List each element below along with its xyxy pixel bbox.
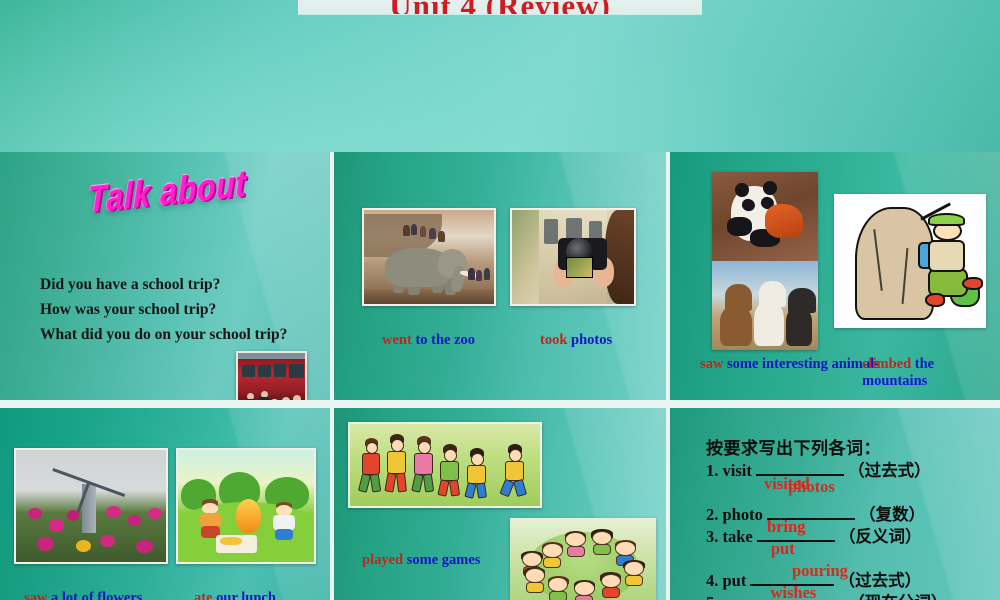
panel-played-some-games: played some games bbox=[334, 408, 666, 600]
row-word: pour bbox=[723, 593, 757, 600]
answer-blank[interactable]: put bbox=[757, 540, 835, 542]
row-number: 1. bbox=[706, 461, 718, 480]
panel-flowers-and-lunch: saw a lot of flowers bbox=[0, 408, 330, 600]
kids-picnic-campfire-cartoon bbox=[176, 448, 316, 564]
caption-rest: some games bbox=[407, 552, 481, 568]
row-hint: （反义词） bbox=[839, 527, 922, 546]
row-number: 4. bbox=[706, 571, 718, 590]
exercise-row: 2. photo bring （复数） bbox=[706, 504, 947, 526]
row-word: put bbox=[723, 571, 747, 590]
row-hint: （过去式） bbox=[839, 571, 922, 590]
slide-title: Unit 4 (Review) bbox=[389, 0, 611, 14]
caption-ate-lunch: ate our lunch bbox=[194, 590, 276, 600]
row-number: 2. bbox=[706, 505, 718, 524]
exercise-row: 5. pour f （现在分词） bbox=[706, 592, 947, 600]
caption-played-games: played some games bbox=[362, 552, 480, 569]
answer-text: put bbox=[771, 538, 795, 560]
caption-rest: to the zoo bbox=[415, 332, 475, 348]
children-running-cartoon bbox=[348, 422, 542, 508]
slide-title-box: Unit 4 (Review) bbox=[298, 0, 702, 14]
answer-blank[interactable]: visited bbox=[756, 474, 844, 476]
exercise-row: 1. visit visited （过去式） bbox=[706, 460, 947, 482]
taking-photo-camera-photo bbox=[510, 208, 636, 306]
question-item: What did you do on your school trip? bbox=[40, 322, 287, 347]
boy-climbing-mountain-cartoon bbox=[834, 194, 986, 328]
caption-verb: climbed bbox=[862, 356, 915, 372]
answer-blank[interactable]: bring bbox=[767, 518, 855, 520]
row-hint: （现在分词） bbox=[848, 593, 947, 600]
exercise-row: 3. take put （反义词） bbox=[706, 526, 947, 548]
panel-animals-and-mountains: saw some interesting animals c bbox=[670, 152, 1000, 400]
school-bus-students-photo bbox=[236, 351, 307, 400]
caption-verb: saw bbox=[24, 590, 51, 600]
caption-rest: a lot of flowers bbox=[51, 590, 142, 600]
caption-verb: played bbox=[362, 552, 407, 568]
caption-rest: some interesting animals bbox=[727, 356, 880, 372]
answer-blank[interactable]: wishes bbox=[750, 584, 834, 586]
caption-rest: our lunch bbox=[216, 590, 276, 600]
panel-went-to-the-zoo: went to the zoo took photos bbox=[334, 152, 666, 400]
row-hint: （复数） bbox=[859, 505, 925, 524]
row-word: visit bbox=[723, 461, 752, 480]
children-circle-cartoon bbox=[510, 518, 656, 600]
exercise-row: 4. put wishes （过去式） bbox=[706, 570, 947, 592]
caption-climbed-mountains: climbed the mountains bbox=[862, 356, 982, 390]
museum-elephant-photo bbox=[362, 208, 496, 306]
panel-word-form-exercise: 按要求写出下列各词： photos 1. visit visited （过去式）… bbox=[670, 408, 1000, 600]
caption-verb: saw bbox=[700, 356, 727, 372]
caption-went-to-the-zoo: went to the zoo bbox=[382, 332, 475, 349]
answer-text: visited bbox=[764, 473, 810, 495]
caption-verb: ate bbox=[194, 590, 216, 600]
exercise-heading: 按要求写出下列各词： bbox=[706, 438, 947, 460]
caption-verb: went bbox=[382, 332, 415, 348]
question-item: How was your school trip? bbox=[40, 297, 287, 322]
caption-verb: took bbox=[540, 332, 571, 348]
row-number: 3. bbox=[706, 527, 718, 546]
row-hint: （过去式） bbox=[848, 461, 931, 480]
question-item: Did you have a school trip? bbox=[40, 272, 287, 297]
caption-saw-flowers: saw a lot of flowers bbox=[24, 590, 142, 600]
caption-saw-animals: saw some interesting animals bbox=[700, 356, 880, 373]
flower-field-windmill-photo bbox=[14, 448, 168, 564]
row-word: take bbox=[723, 527, 753, 546]
exercise-block: 按要求写出下列各词： photos 1. visit visited （过去式）… bbox=[706, 438, 947, 600]
talk-about-question-list: Did you have a school trip? How was your… bbox=[40, 272, 287, 347]
caption-rest: photos bbox=[571, 332, 612, 348]
panda-and-alpacas-photo bbox=[712, 172, 818, 350]
row-word: photo bbox=[723, 505, 763, 524]
row-number: 5. bbox=[706, 593, 718, 600]
slide-panel-grid: went to the zoo took photos bbox=[0, 152, 1000, 600]
caption-took-photos: took photos bbox=[540, 332, 612, 349]
